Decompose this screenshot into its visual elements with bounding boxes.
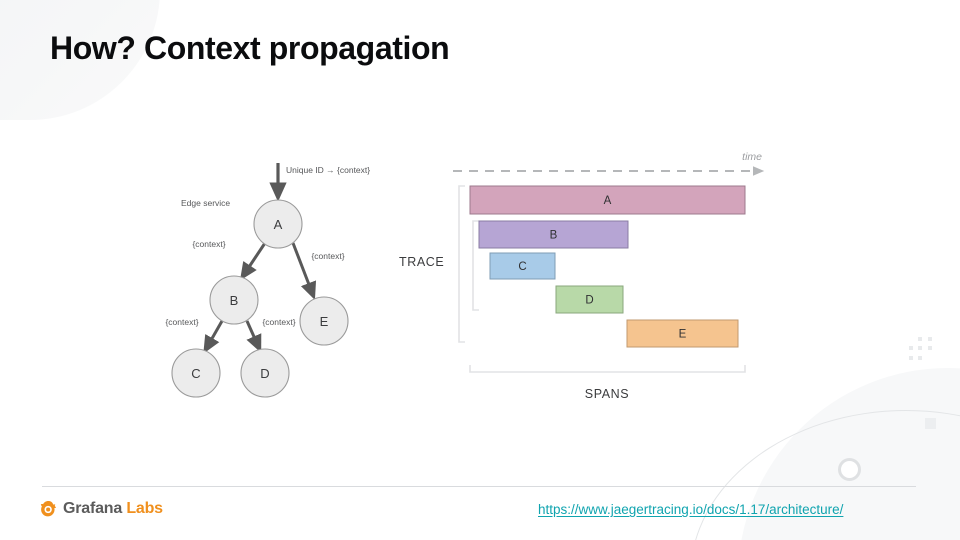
span-bar-d: D — [556, 286, 623, 313]
tree-node-e: E — [300, 297, 348, 345]
arc-line-decoration — [690, 410, 960, 540]
tree-node-label: B — [230, 293, 239, 308]
span-bar-b: B — [479, 221, 628, 248]
span-bar-label: C — [518, 261, 526, 273]
tree-node-label: D — [260, 366, 269, 381]
tree-node-b: B — [210, 276, 258, 324]
grafana-labs-wordmark: Grafana Labs — [63, 501, 163, 517]
tree-node-label: A — [274, 217, 283, 232]
grafana-flame-icon — [40, 500, 57, 518]
span-bar-a: A — [470, 186, 745, 214]
tree-node-label: C — [191, 366, 200, 381]
brand-word-labs: Labs — [126, 500, 163, 517]
edge-b-to-d — [247, 321, 259, 348]
edge-label-b-d: {context} — [262, 317, 295, 327]
spans-bracket — [470, 365, 745, 372]
span-bar-c: C — [490, 253, 555, 279]
footer-divider — [42, 486, 916, 487]
edge-a-to-b — [243, 243, 265, 276]
trace-spans-gantt: time TRACE A B C — [399, 151, 762, 401]
edge-label-a-b: {context} — [192, 239, 225, 249]
edge-a-to-e — [293, 243, 313, 295]
entry-label: Unique ID → {context} — [286, 165, 370, 175]
trace-label: TRACE — [399, 255, 444, 269]
slide-root: How? Context propagation Unique ID → {co… — [0, 0, 960, 540]
span-bar-label: E — [679, 329, 687, 341]
context-propagation-figure: Unique ID → {context} Edge service {cont… — [0, 0, 960, 460]
trace-bracket-outer — [459, 186, 465, 342]
page-title: How? Context propagation — [50, 30, 449, 67]
edge-service-label: Edge service — [181, 198, 230, 208]
edge-label-b-c: {context} — [165, 317, 198, 327]
edge-label-a-e: {context} — [311, 251, 344, 261]
square-dot-decoration — [925, 418, 936, 429]
grafana-labs-logo: Grafana Labs — [40, 500, 163, 518]
service-call-tree: Unique ID → {context} Edge service {cont… — [165, 163, 370, 397]
edge-b-to-c — [206, 321, 222, 349]
span-bar-e: E — [627, 320, 738, 347]
dot-grid-decoration — [909, 337, 935, 361]
brand-word-grafana: Grafana — [63, 500, 122, 517]
span-bar-label: D — [585, 295, 593, 307]
ring-dot-decoration — [838, 458, 861, 481]
tree-node-label: E — [320, 314, 329, 329]
time-axis-label: time — [742, 151, 762, 163]
source-url-link[interactable]: https://www.jaegertracing.io/docs/1.17/a… — [538, 502, 843, 517]
span-bar-label: B — [550, 230, 558, 242]
trace-bracket-inner — [473, 221, 479, 310]
tree-node-c: C — [172, 349, 220, 397]
tree-node-d: D — [241, 349, 289, 397]
spans-label: SPANS — [585, 387, 629, 401]
tree-node-a: A — [254, 200, 302, 248]
span-bar-label: A — [604, 195, 612, 207]
